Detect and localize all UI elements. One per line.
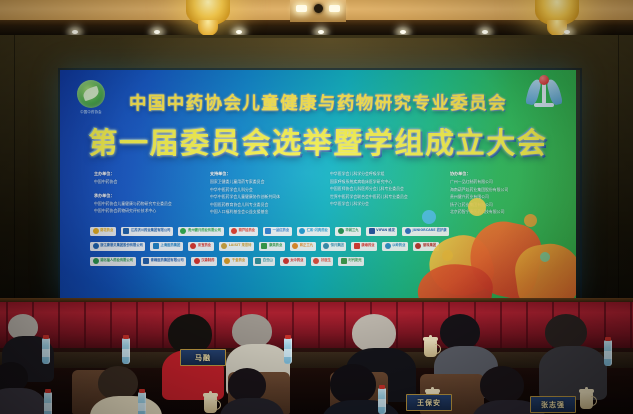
audience-head bbox=[98, 366, 138, 400]
nameplate-text: 马融 bbox=[195, 353, 211, 363]
skirt-fold bbox=[214, 302, 216, 348]
nameplate: 张志强 bbox=[530, 396, 576, 413]
ceiling-spotlight bbox=[400, 30, 406, 34]
audience-head bbox=[545, 314, 587, 350]
ceiling-spotlight bbox=[154, 30, 160, 34]
water-bottle bbox=[604, 340, 612, 366]
led-screen: 中国中药协会 中国中药协会儿童健康与药物研究专业委员会 第一届委员会选举暨学组成… bbox=[60, 70, 576, 298]
skirt-fold bbox=[292, 302, 294, 348]
nameplate: 马融 bbox=[180, 349, 226, 366]
audience-head bbox=[352, 314, 396, 352]
tea-cup bbox=[204, 396, 217, 413]
audience-head bbox=[330, 364, 376, 404]
ceiling-spotlight bbox=[482, 30, 488, 34]
audience-head bbox=[440, 314, 480, 350]
audience-body bbox=[539, 346, 607, 400]
conference-photo: 中国中药协会 中国中药协会儿童健康与药物研究专业委员会 第一届委员会选举暨学组成… bbox=[0, 0, 633, 414]
ceiling-spotlight bbox=[72, 30, 78, 34]
skirt-fold bbox=[500, 302, 502, 348]
nameplate-text: 王保安 bbox=[417, 398, 441, 408]
ceiling-projector bbox=[290, 0, 346, 22]
water-bottle bbox=[138, 392, 146, 414]
skirt-fold bbox=[630, 302, 632, 348]
tea-cup bbox=[424, 340, 437, 357]
ceiling-spotlight bbox=[236, 30, 242, 34]
audience-head bbox=[228, 368, 266, 402]
nameplate: 王保安 bbox=[406, 394, 452, 411]
skirt-fold bbox=[84, 302, 86, 348]
stage-skirt bbox=[0, 302, 633, 350]
water-bottle bbox=[122, 338, 130, 364]
skirt-fold bbox=[344, 302, 346, 348]
skirt-fold bbox=[318, 302, 320, 348]
tea-cup bbox=[580, 392, 593, 409]
water-bottle bbox=[378, 388, 386, 414]
ceiling-spotlight bbox=[318, 30, 324, 34]
audience-head bbox=[480, 366, 524, 404]
water-bottle bbox=[44, 392, 52, 414]
nameplate-text: 张志强 bbox=[541, 400, 565, 410]
audience-head bbox=[168, 314, 212, 354]
ceiling-spotlight bbox=[564, 30, 570, 34]
skirt-fold bbox=[396, 302, 398, 348]
skirt-fold bbox=[58, 302, 60, 348]
skirt-fold bbox=[162, 302, 164, 348]
skirt-fold bbox=[136, 302, 138, 348]
water-bottle bbox=[284, 338, 292, 364]
water-bottle bbox=[42, 338, 50, 364]
skirt-fold bbox=[110, 302, 112, 348]
skirt-fold bbox=[526, 302, 528, 348]
audience-head bbox=[232, 314, 272, 348]
